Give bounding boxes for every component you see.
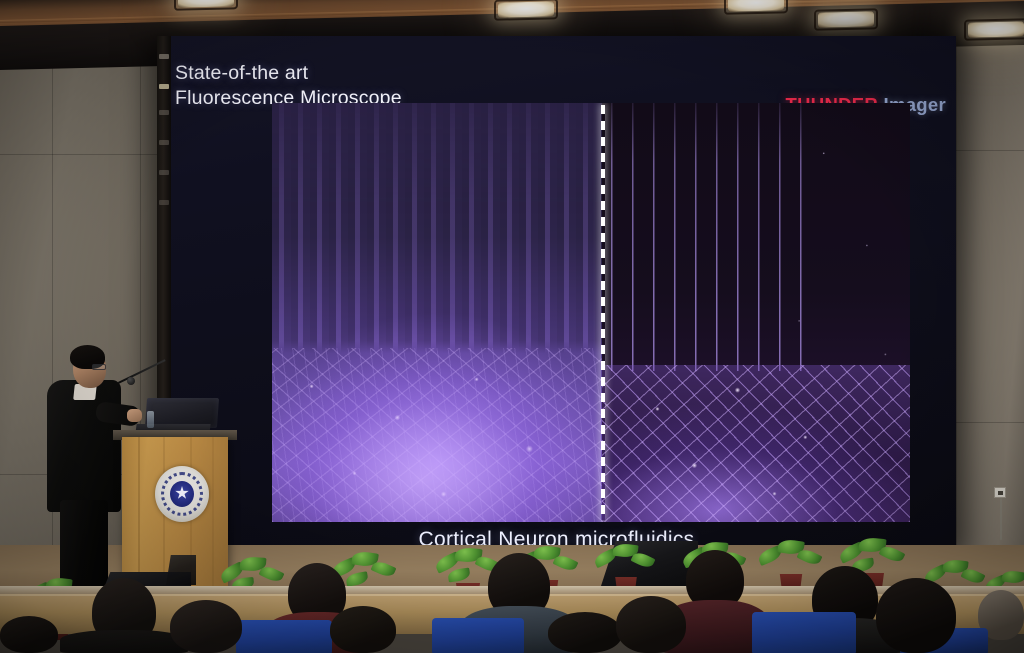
audience-chair <box>432 618 524 653</box>
audience-head <box>876 578 956 653</box>
speaker-glasses <box>92 364 106 370</box>
panel-thunder <box>602 103 910 522</box>
university-seal-emblem <box>155 466 209 522</box>
audience-chair <box>752 612 856 653</box>
ceiling-downlight <box>178 0 234 8</box>
audience-head <box>616 596 686 653</box>
projection-screen: State-of-the art Fluorescence Microscope… <box>157 36 956 549</box>
widefield-glow-haze <box>272 103 602 522</box>
audience-head <box>0 616 58 653</box>
thunder-sparse-puncta <box>602 103 910 522</box>
audience-head <box>548 612 622 653</box>
audience-chair <box>236 620 332 653</box>
wall-power-outlet <box>994 487 1006 498</box>
ceiling-downlight <box>498 1 554 17</box>
audience-head <box>330 606 396 653</box>
microphone-head <box>127 377 135 385</box>
presentation-photo-scene: State-of-the art Fluorescence Microscope… <box>0 0 1024 653</box>
ceiling-downlight <box>968 21 1024 37</box>
power-cord <box>1000 498 1002 540</box>
comparison-divider-line <box>601 105 605 520</box>
stage-monitor-speaker <box>166 555 196 585</box>
ceiling-downlight <box>818 11 874 27</box>
audience-shoulders <box>60 630 188 653</box>
water-bottle <box>147 411 154 428</box>
audience-head <box>170 600 242 653</box>
right-wall-panel <box>946 22 1024 622</box>
panel-widefield <box>272 103 602 522</box>
seal-star-icon <box>175 486 189 500</box>
speaker-hand-with-clicker <box>127 409 142 422</box>
microscopy-comparison-image <box>272 103 910 522</box>
ceiling-downlight <box>728 0 784 12</box>
